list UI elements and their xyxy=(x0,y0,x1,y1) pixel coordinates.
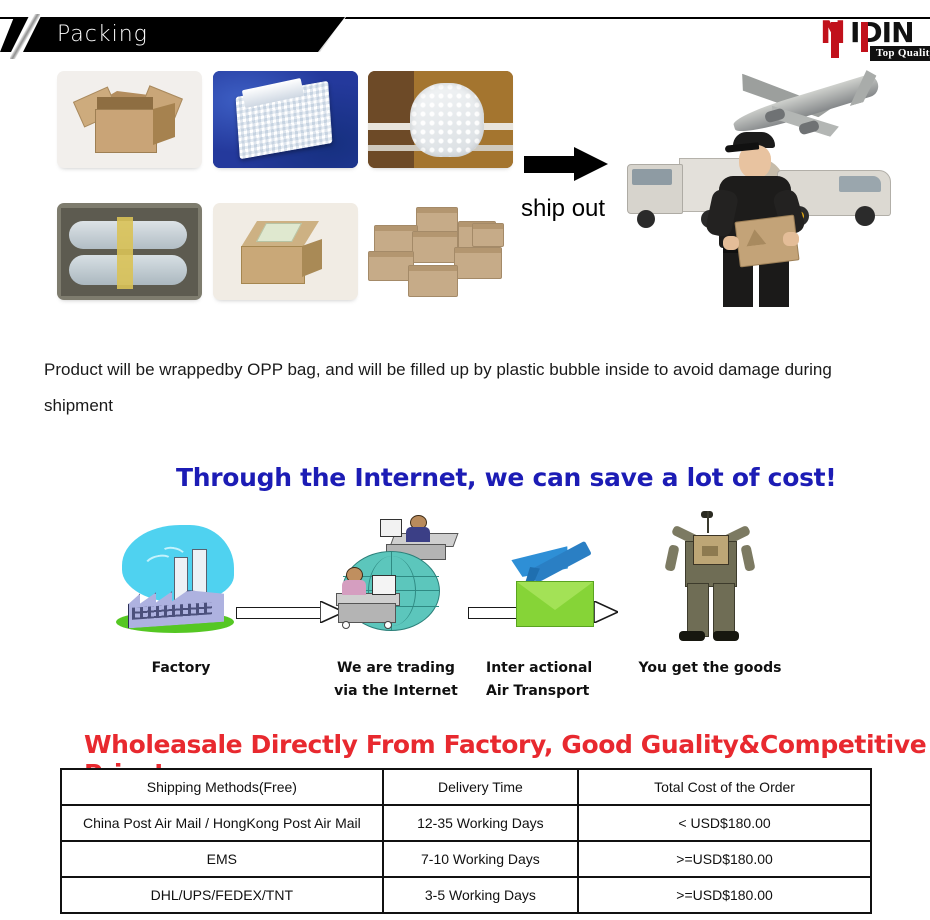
cell-delivery-time: 3-5 Working Days xyxy=(384,878,579,912)
bubble-wrapped-ball-icon xyxy=(410,83,484,157)
packing-photo-open-carton xyxy=(57,71,202,168)
cell-total-cost: >=USD$180.00 xyxy=(579,878,870,912)
ship-out-label: ship out xyxy=(521,195,605,223)
trade-flow-diagram: Factory We are tradin xyxy=(0,505,930,710)
courier-person-icon xyxy=(703,132,815,307)
logo-wordmark: N IDIN xyxy=(820,18,924,48)
trader-person-lower xyxy=(342,567,366,595)
carton-icon xyxy=(412,231,458,263)
packing-description: Product will be wrappedby OPP bag, and w… xyxy=(44,352,884,424)
flow-label-factory: Factory xyxy=(116,657,246,680)
banner-slash-line-icon xyxy=(10,14,40,59)
ship-out-arrow-icon xyxy=(524,147,608,181)
person-leg-left xyxy=(687,583,709,637)
flow-label-line1: We are trading xyxy=(316,657,476,680)
cell-total-cost: >=USD$180.00 xyxy=(579,842,870,878)
table-row: China Post Air Mail / HongKong Post Air … xyxy=(62,806,870,842)
person-shoe-right xyxy=(713,631,739,641)
page-title: Packing xyxy=(57,22,148,47)
carton-side-icon xyxy=(153,103,175,145)
person-body xyxy=(406,527,430,542)
carton-icon xyxy=(472,223,504,247)
flow-label-line1: Factory xyxy=(116,657,246,680)
table-header-row: Shipping Methods(Free) Delivery Time Tot… xyxy=(62,770,870,806)
flow-label-line1: You get the goods xyxy=(620,657,800,680)
column-header-total-cost: Total Cost of the Order xyxy=(579,770,870,806)
carton-icon xyxy=(408,265,458,297)
arrow-bar xyxy=(236,607,323,619)
logo-red-bar-right-icon xyxy=(861,22,868,52)
cell-shipping-method: EMS xyxy=(62,842,384,878)
van-wheel-rear xyxy=(855,206,875,226)
antenna-rod xyxy=(707,511,709,533)
brand-logo: N IDIN Top Quality xyxy=(820,18,924,62)
carton-front-icon xyxy=(241,246,305,284)
shipping-scene xyxy=(625,62,895,307)
courier-hand-left xyxy=(723,236,739,250)
lower-monitor xyxy=(372,575,396,595)
table-row: DHL/UPS/FEDEX/TNT 3-5 Working Days >=USD… xyxy=(62,878,870,912)
person-shoe-left xyxy=(679,631,705,641)
packing-photo-bagged-items xyxy=(57,203,202,300)
packing-photo-bubble-sheet xyxy=(213,71,358,168)
airmail-envelope-icon xyxy=(516,581,594,627)
carton-front-icon xyxy=(95,109,157,153)
air-transport-icon xyxy=(494,531,624,643)
column-header-delivery-time: Delivery Time xyxy=(384,770,579,806)
cell-delivery-time: 7-10 Working Days xyxy=(384,842,579,878)
packing-photo-carton-stack xyxy=(368,203,518,300)
cell-shipping-method: China Post Air Mail / HongKong Post Air … xyxy=(62,806,384,842)
van-window xyxy=(839,176,881,192)
page-header: Packing xyxy=(0,0,930,62)
header-banner xyxy=(0,17,345,52)
flow-label-trading: We are trading via the Internet xyxy=(316,657,476,703)
factory-icon xyxy=(116,525,246,645)
person-arm-left-lower xyxy=(664,544,679,572)
desk-wheel-right xyxy=(384,621,392,629)
cell-total-cost: < USD$180.00 xyxy=(579,806,870,842)
upper-monitor xyxy=(380,519,402,537)
cell-shipping-method: DHL/UPS/FEDEX/TNT xyxy=(62,878,384,912)
shipping-rates-table: Shipping Methods(Free) Delivery Time Tot… xyxy=(60,768,872,914)
flow-label-line1: Inter actional xyxy=(486,657,636,680)
carton-icon xyxy=(454,247,502,279)
person-body xyxy=(342,580,366,595)
table-row: EMS 7-10 Working Days >=USD$180.00 xyxy=(62,842,870,878)
person-receiving-goods-icon xyxy=(665,511,755,649)
truck-window xyxy=(632,169,672,185)
flow-label-you-get-goods: You get the goods xyxy=(620,657,800,680)
trader-person-upper xyxy=(406,515,430,539)
person-leg-right xyxy=(713,583,735,637)
flow-label-air-transport: Inter actional Air Transport xyxy=(486,657,636,703)
globe-trading-icon xyxy=(328,515,468,645)
arrow-head xyxy=(574,147,608,181)
yellow-tape-icon xyxy=(117,217,133,289)
received-parcel-box xyxy=(693,535,729,565)
column-header-shipping-methods: Shipping Methods(Free) xyxy=(62,770,384,806)
background-left-icon xyxy=(368,71,414,168)
logo-red-bar-left-icon xyxy=(831,22,839,58)
person-arm-right-lower xyxy=(740,544,755,572)
flow-label-line2: Air Transport xyxy=(486,680,636,703)
cell-delivery-time: 12-35 Working Days xyxy=(384,806,579,842)
arrow-shaft xyxy=(524,156,578,173)
carton-side-icon xyxy=(302,239,322,277)
desk-wheel-left xyxy=(342,621,350,629)
internet-savings-heading: Through the Internet, we can save a lot … xyxy=(176,463,836,492)
packing-photo-sealed-carton xyxy=(213,203,358,300)
flow-label-line2: via the Internet xyxy=(316,680,476,703)
envelope-flap xyxy=(517,582,593,610)
logo-tagline: Top Quality xyxy=(870,46,930,61)
lower-desk-body xyxy=(338,603,396,623)
packing-photo-bubble-wrapped-item xyxy=(368,71,513,168)
courier-hand-right xyxy=(783,232,799,246)
logo-rest: IDIN xyxy=(850,18,914,48)
truck-wheel-front xyxy=(637,210,655,228)
